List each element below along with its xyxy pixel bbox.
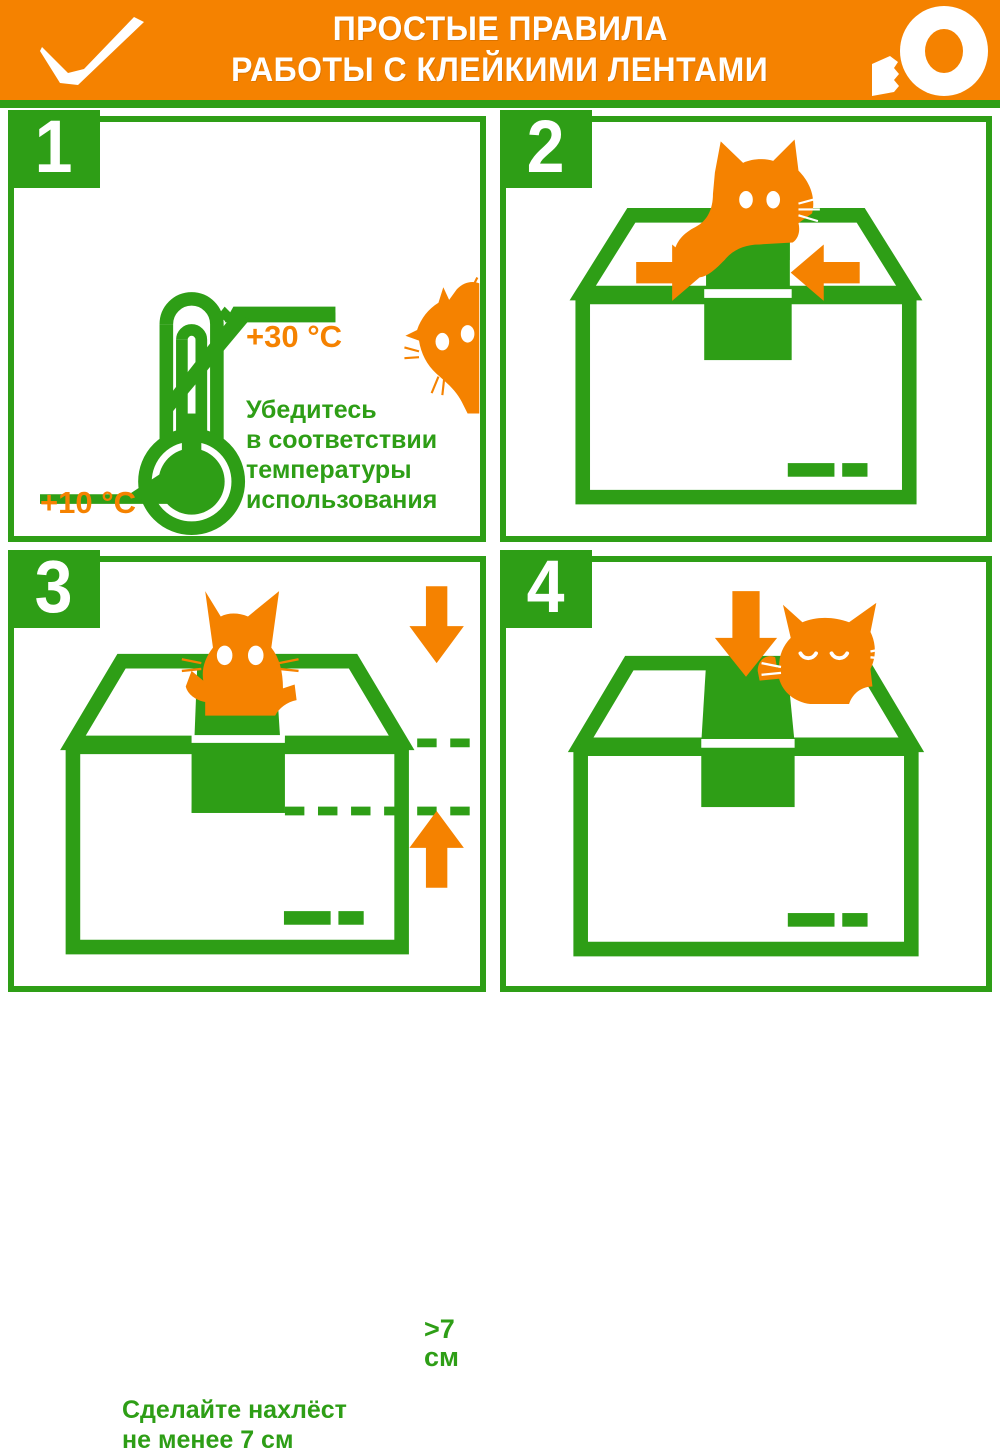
tape-roll-icon	[872, 6, 1000, 96]
caption-line: Убедитесь	[246, 395, 437, 425]
step-number: 1	[35, 110, 73, 184]
header-title: ПРОСТЫЕ ПРАВИЛА РАБОТЫ С КЛЕЙКИМИ ЛЕНТАМ…	[150, 4, 850, 96]
step-number: 3	[35, 550, 73, 624]
caption-line: использования	[246, 485, 437, 515]
arrow-down-icon	[409, 586, 463, 663]
header-title-line2: РАБОТЫ С КЛЕЙКИМИ ЛЕНТАМИ	[231, 50, 768, 91]
step-number: 2	[527, 110, 565, 184]
step-badge-4: 4	[500, 550, 592, 628]
caption-line: в соответствии	[246, 425, 437, 455]
panel-1-caption: Убедитесь в соответствии температуры исп…	[246, 395, 437, 515]
checkmark-icon	[38, 13, 158, 85]
caption-line: Сделайте нахлёст	[122, 1395, 347, 1425]
temperature-label-low: +10 °C	[40, 485, 136, 521]
step-badge-1: 1	[8, 110, 100, 188]
header-underline	[0, 100, 1000, 108]
measure-line: >7	[424, 1315, 459, 1343]
header-title-line1: ПРОСТЫЕ ПРАВИЛА	[332, 9, 667, 50]
header-banner: ПРОСТЫЕ ПРАВИЛА РАБОТЫ С КЛЕЙКИМИ ЛЕНТАМ…	[0, 0, 1000, 100]
arrow-up-icon	[409, 811, 463, 888]
infographic-poster: ПРОСТЫЕ ПРАВИЛА РАБОТЫ С КЛЕЙКИМИ ЛЕНТАМ…	[0, 0, 1000, 1000]
step-badge-3: 3	[8, 550, 100, 628]
caption-line: температуры	[246, 455, 437, 485]
measure-line: см	[424, 1343, 459, 1371]
temperature-label-high: +30 °C	[246, 319, 342, 355]
cat-on-box-icon	[182, 591, 299, 715]
caption-line: не менее 7 см	[122, 1425, 347, 1455]
cat-peeking-icon	[404, 277, 479, 413]
panel-3-caption: Сделайте нахлёст не менее 7 см	[122, 1395, 347, 1455]
overlap-measure-label: >7 см	[424, 1315, 459, 1371]
step-number: 4	[527, 550, 565, 624]
step-badge-2: 2	[500, 110, 592, 188]
